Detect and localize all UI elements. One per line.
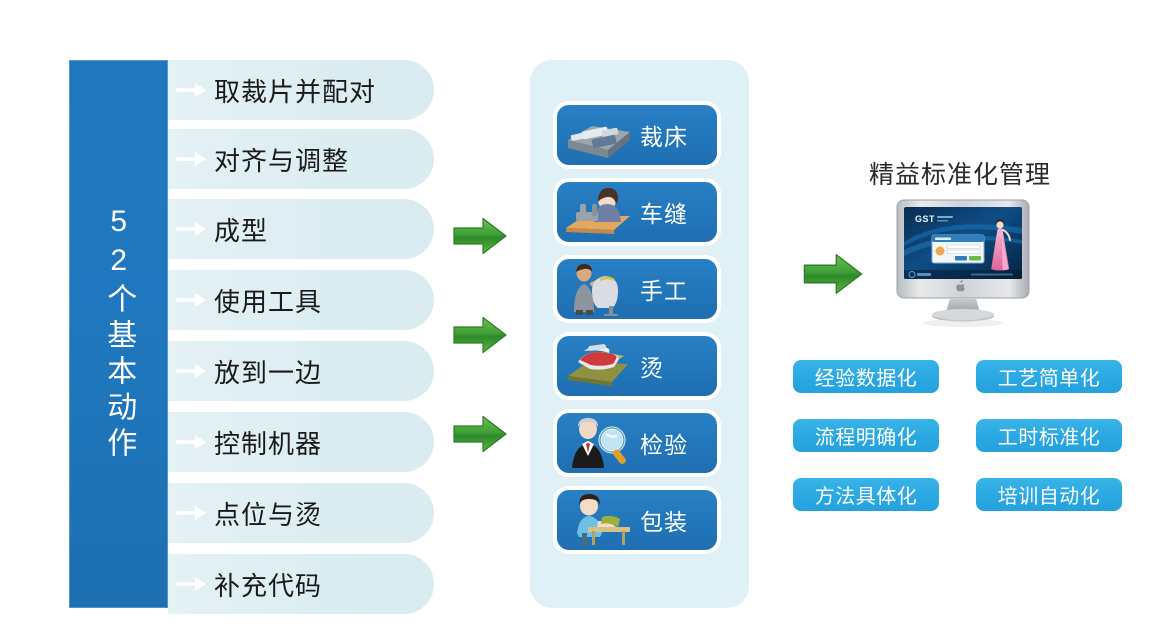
imac-monitor-icon: GST (893, 198, 1033, 328)
green-arrow-right-icon (452, 414, 508, 454)
action-row[interactable]: 控制机器 (168, 412, 434, 472)
process-item[interactable]: 裁床 (557, 105, 717, 165)
action-row[interactable]: 使用工具 (168, 270, 434, 330)
arrow-right-icon (176, 362, 208, 380)
process-item-label: 车缝 (640, 195, 688, 229)
action-row[interactable]: 对齐与调整 (168, 129, 434, 189)
sewing-worker-icon (560, 185, 638, 239)
benefit-tag[interactable]: 培训自动化 (976, 478, 1122, 511)
process-panel: 裁床 车缝 (530, 60, 749, 608)
benefit-tag[interactable]: 经验数据化 (793, 360, 939, 393)
benefit-tag[interactable]: 工艺简单化 (976, 360, 1122, 393)
process-item-label: 手工 (640, 272, 688, 306)
packing-worker-icon (560, 493, 638, 547)
process-item[interactable]: 检验 (557, 413, 717, 473)
benefit-tag[interactable]: 方法具体化 (793, 478, 939, 511)
process-item-label: 裁床 (640, 118, 688, 152)
action-row-label: 取裁片并配对 (214, 72, 376, 109)
action-rows-group: 取裁片并配对 对齐与调整 成型 使用工具 放到一边 (168, 60, 434, 608)
action-row[interactable]: 成型 (168, 199, 434, 259)
arrow-right-icon (176, 150, 208, 168)
left-blue-bar: 52个基本动作 (69, 60, 168, 608)
arrow-right-icon (176, 504, 208, 522)
process-item[interactable]: 车缝 (557, 182, 717, 242)
arrow-right-icon (176, 220, 208, 238)
action-row-label: 成型 (214, 211, 268, 248)
svg-text:GST: GST (915, 214, 935, 224)
action-row[interactable]: 取裁片并配对 (168, 60, 434, 120)
action-row-label: 使用工具 (214, 282, 322, 319)
process-item[interactable]: 手工 (557, 259, 717, 319)
process-item-label: 包装 (640, 503, 688, 537)
action-row-label: 控制机器 (214, 424, 322, 461)
benefit-tag[interactable]: 流程明确化 (793, 419, 939, 452)
green-arrow-right-icon (802, 252, 864, 296)
cutting-machine-icon (560, 108, 638, 162)
right-section-title: 精益标准化管理 (869, 155, 1051, 191)
action-row[interactable]: 补充代码 (168, 554, 434, 614)
benefit-tag[interactable]: 工时标准化 (976, 419, 1122, 452)
process-item[interactable]: 烫 (557, 336, 717, 396)
process-item-label: 烫 (640, 349, 664, 383)
iron-icon (560, 339, 638, 393)
tailor-mannequin-icon (560, 262, 638, 316)
action-row-label: 放到一边 (214, 353, 322, 390)
action-row-label: 补充代码 (214, 566, 322, 603)
action-row[interactable]: 点位与烫 (168, 483, 434, 543)
action-row-label: 对齐与调整 (214, 141, 349, 178)
process-item[interactable]: 包装 (557, 490, 717, 550)
diagram-canvas: 52个基本动作 取裁片并配对 对齐与调整 成型 使用工具 (0, 0, 1153, 632)
arrow-right-icon (176, 575, 208, 593)
green-arrow-right-icon (452, 315, 508, 355)
action-row[interactable]: 放到一边 (168, 341, 434, 401)
process-item-label: 检验 (640, 426, 688, 460)
green-arrow-right-icon (452, 216, 508, 256)
arrow-right-icon (176, 433, 208, 451)
left-bar-label: 52个基本动作 (101, 205, 136, 463)
action-row-label: 点位与烫 (214, 495, 322, 532)
arrow-right-icon (176, 81, 208, 99)
inspector-magnifier-icon (560, 416, 638, 470)
arrow-right-icon (176, 291, 208, 309)
